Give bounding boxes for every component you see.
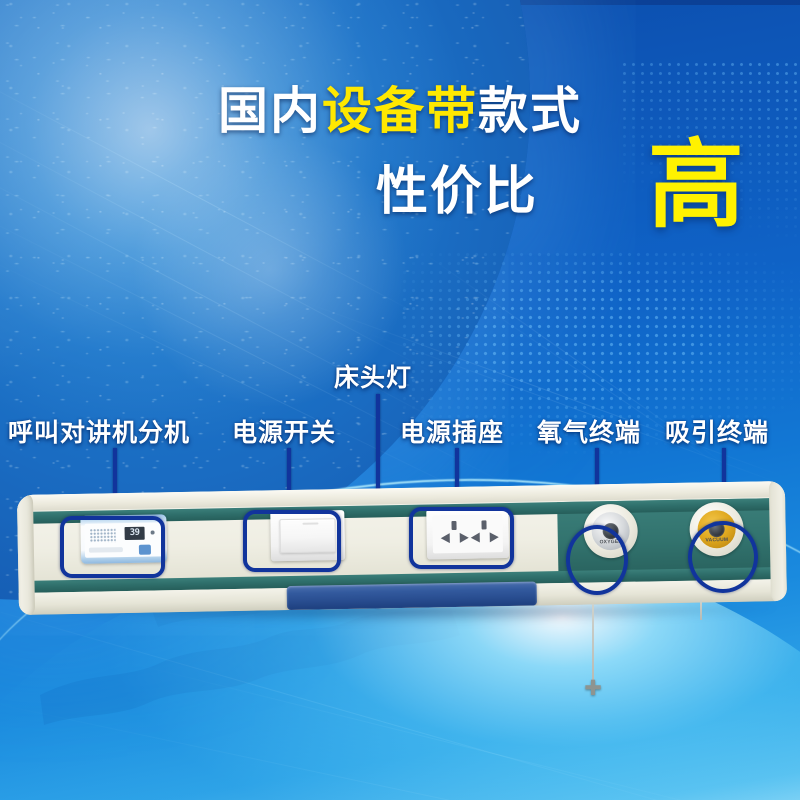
bed-lamp-diffuser[interactable]: [287, 582, 537, 611]
highlight-box-intercom: [60, 516, 165, 578]
highlight-box-power-switch: [243, 510, 341, 572]
callout-label-power-socket: 电源插座: [400, 413, 504, 449]
headline-seg-3: 款式: [478, 83, 582, 139]
callout-label-bed-lamp: 床头灯: [334, 358, 412, 394]
callout-label-intercom: 呼叫对讲机分机: [8, 413, 190, 449]
callout-label-suction: 吸引终端: [665, 413, 769, 449]
pull-cord-oxygen[interactable]: [592, 604, 594, 684]
product-banner: 国内设备带款式 性价比 高 呼叫对讲机分机 电源开关 床头灯 电源插座 氧气终端…: [0, 0, 800, 800]
headline-block: 国内设备带款式 性价比 高: [0, 86, 800, 238]
headline-line-1: 国内设备带款式: [0, 86, 800, 136]
highlight-ring-suction: [688, 521, 758, 593]
headline-seg-2: 设备带: [322, 83, 478, 139]
highlight-box-power-socket: [409, 507, 514, 569]
callout-label-power-switch: 电源开关: [232, 413, 336, 449]
panel-end-cap-left: [17, 492, 35, 615]
callout-label-oxygen: 氧气终端: [537, 413, 641, 449]
pull-cord-handle-icon[interactable]: ✚: [584, 678, 602, 700]
headline-seg-1: 国内: [218, 83, 322, 139]
panel-end-cap-right: [769, 481, 787, 604]
highlight-ring-oxygen: [566, 525, 628, 595]
headline-line-2: 性价比 高: [0, 162, 800, 238]
headline-value-text: 性价比: [376, 166, 538, 218]
pull-cord-suction[interactable]: [700, 600, 702, 620]
headline-accent-char: 高: [648, 138, 744, 234]
